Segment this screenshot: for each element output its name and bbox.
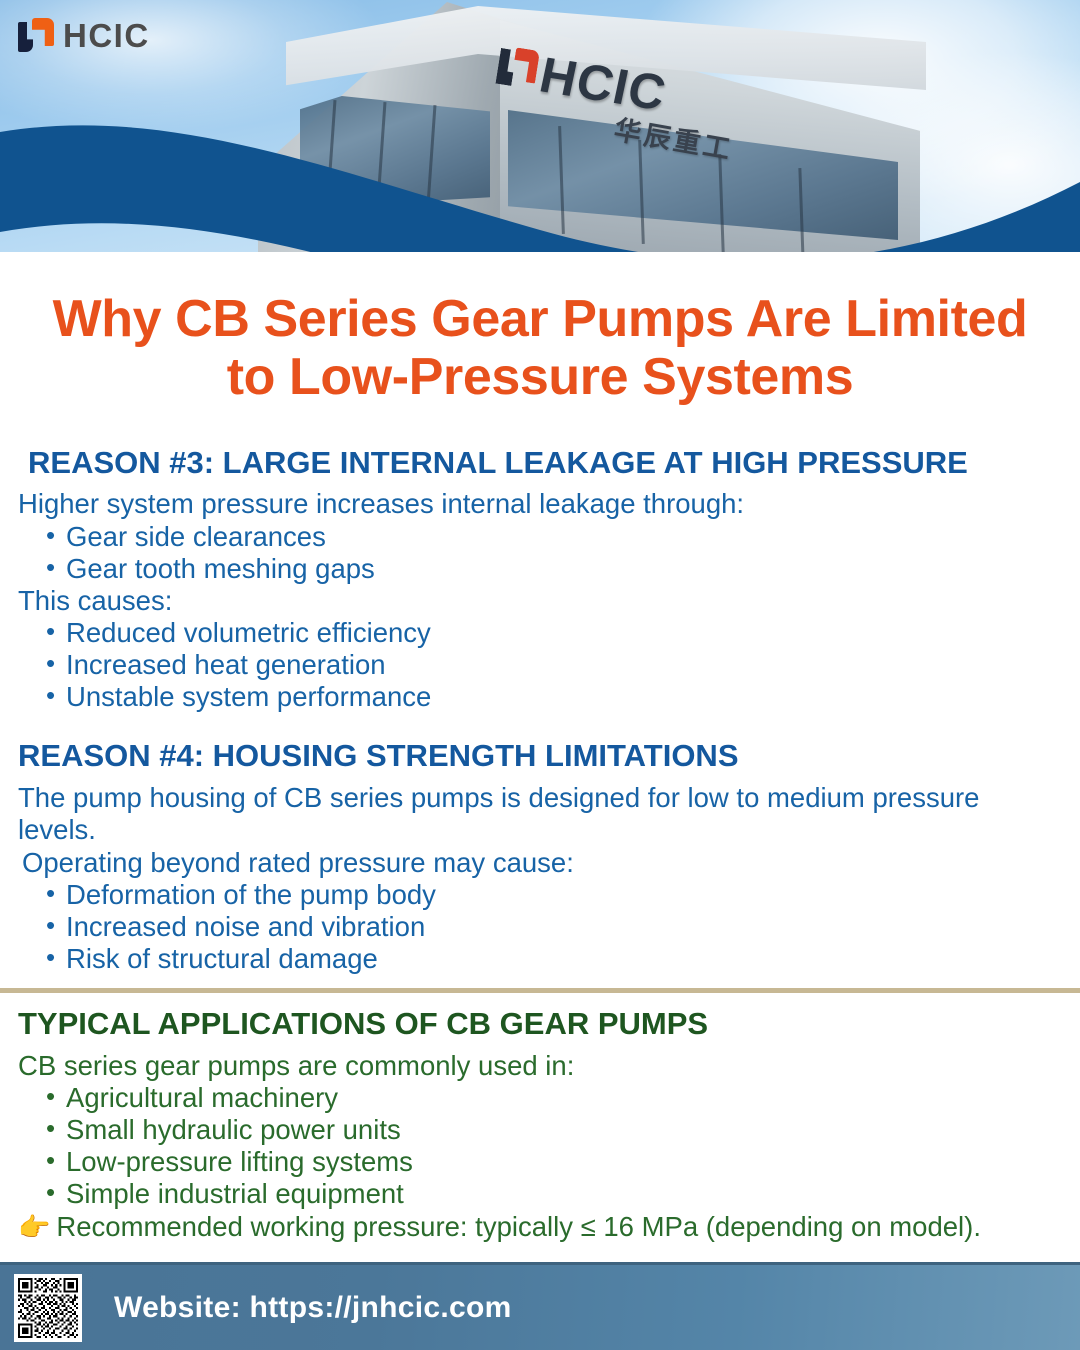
list-item: Low-pressure lifting systems: [46, 1146, 1080, 1178]
section-reason-3: REASON #3: LARGE INTERNAL LEAKAGE AT HIG…: [0, 444, 1080, 713]
section-reason-4: REASON #4: HOUSING STRENGTH LIMITATIONS …: [0, 737, 1080, 975]
header-bottom-mask: [0, 252, 1080, 272]
recommendation-line: 👉 Recommended working pressure: typicall…: [0, 1210, 1080, 1243]
list-item: Reduced volumetric efficiency: [46, 617, 1080, 649]
section-divider: [0, 988, 1080, 993]
brand-logo: HCIC: [18, 18, 150, 52]
content-body: REASON #3: LARGE INTERNAL LEAKAGE AT HIG…: [0, 444, 1080, 1243]
list-item: Increased heat generation: [46, 649, 1080, 681]
pointing-right-hand-icon: 👉: [18, 1214, 50, 1240]
section-intro-reason-4: The pump housing of CB series pumps is d…: [0, 782, 1080, 847]
section-typical-applications: TYPICAL APPLICATIONS OF CB GEAR PUMPS CB…: [0, 1005, 1080, 1243]
hcic-building-sign-mark-icon: [495, 45, 543, 93]
list-item: Small hydraulic power units: [46, 1114, 1080, 1146]
header-photo-banner: HCIC 华辰重工: [0, 0, 1080, 272]
section-heading-applications: TYPICAL APPLICATIONS OF CB GEAR PUMPS: [0, 1005, 1080, 1043]
list-item: Agricultural machinery: [46, 1082, 1080, 1114]
footer-bar: Website: https://jnhcic.com: [0, 1262, 1080, 1350]
list-item: Gear side clearances: [46, 521, 1080, 553]
qr-code-icon[interactable]: [14, 1274, 82, 1342]
recommendation-text: Recommended working pressure: typically …: [56, 1210, 981, 1243]
list-item: Risk of structural damage: [46, 943, 1080, 975]
page-title-line1: Why CB Series Gear Pumps Are Limited: [53, 290, 1028, 348]
bullet-list-reason-3-b: Reduced volumetric efficiency Increased …: [0, 617, 1080, 713]
website-label[interactable]: Website: https://jnhcic.com: [114, 1291, 512, 1325]
bullet-list-reason-3-a: Gear side clearances Gear tooth meshing …: [0, 521, 1080, 585]
section-intro-applications: CB series gear pumps are commonly used i…: [0, 1050, 1080, 1082]
bullet-list-reason-4: Deformation of the pump body Increased n…: [0, 879, 1080, 975]
list-item: Gear tooth meshing gaps: [46, 553, 1080, 585]
bullet-list-applications: Agricultural machinery Small hydraulic p…: [0, 1082, 1080, 1210]
list-item: Simple industrial equipment: [46, 1178, 1080, 1210]
list-item: Deformation of the pump body: [46, 879, 1080, 911]
brand-name: HCIC: [63, 19, 150, 52]
section-heading-reason-3: REASON #3: LARGE INTERNAL LEAKAGE AT HIG…: [0, 444, 1080, 482]
blue-wave-divider: [0, 110, 1080, 272]
list-item: Increased noise and vibration: [46, 911, 1080, 943]
section-intro-reason-3: Higher system pressure increases interna…: [0, 488, 1080, 520]
section-heading-reason-4: REASON #4: HOUSING STRENGTH LIMITATIONS: [0, 737, 1080, 775]
page-title: Why CB Series Gear Pumps Are Limited to …: [0, 290, 1080, 406]
hcic-logo-mark-icon: [18, 18, 54, 52]
page-title-line2: to Low-Pressure Systems: [227, 348, 854, 406]
list-item: Unstable system performance: [46, 681, 1080, 713]
section-mid-reason-4: Operating beyond rated pressure may caus…: [0, 847, 1080, 879]
section-mid-reason-3: This causes:: [0, 585, 1080, 617]
